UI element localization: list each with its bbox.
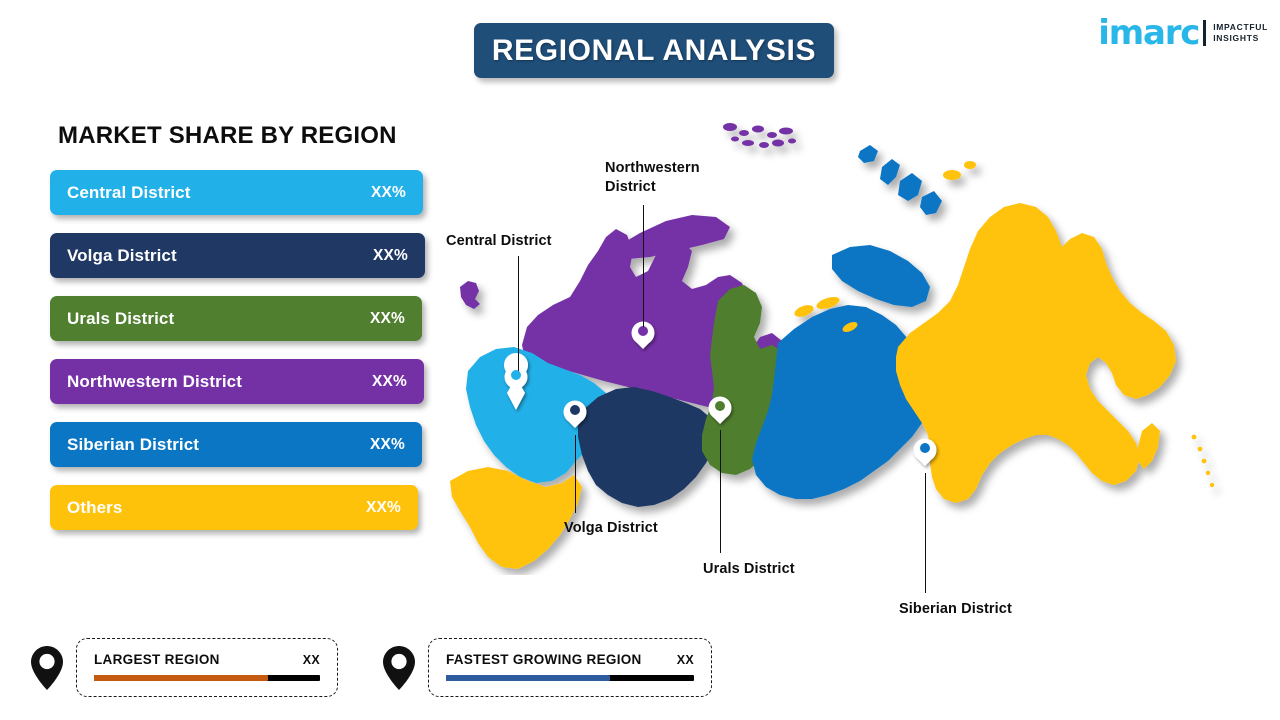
map-label-volga: Volga District [564,519,658,538]
callout-box: LARGEST REGION XX [76,638,338,697]
callout-progress-track [94,675,320,681]
region-siberian[interactable] [752,305,930,499]
region-sakhalin [1138,423,1160,469]
callout-value: XX [651,653,694,667]
leader-line-central [518,256,519,371]
map-label-northwestern: Northwestern District [605,159,700,197]
region-kaliningrad[interactable] [460,281,480,309]
callout-progress-fill [94,675,268,681]
callout-box: FASTEST GROWING REGION XX [428,638,712,697]
region-novaya-zemlya-blue [858,145,942,215]
callout-name: LARGEST REGION [94,652,220,667]
legend-row-siberian[interactable]: Siberian District XX% [50,422,422,467]
map-landmass-group [450,123,1214,569]
page-title-banner: REGIONAL ANALYSIS [474,23,834,78]
map-pin-siberian-hole [920,443,930,453]
legend-label: Urals District [67,309,370,329]
callout-head: FASTEST GROWING REGION XX [446,652,694,667]
map-label-urals: Urals District [703,560,795,579]
callout-head: LARGEST REGION XX [94,652,320,667]
imarc-logo: imarc IMPACTFUL INSIGHTS [1098,14,1268,52]
map-pin-northwestern-hole [638,326,648,336]
logo-divider [1203,20,1206,46]
region-kuril-islands [1192,435,1215,488]
legend-row-volga[interactable]: Volga District XX% [50,233,425,278]
legend-row-urals[interactable]: Urals District XX% [50,296,422,341]
leader-line-siberian [925,473,926,593]
legend-value: XX% [372,373,407,391]
legend-value: XX% [373,247,408,265]
legend-label: Siberian District [67,435,370,455]
region-others-south[interactable] [450,467,582,569]
leader-line-volga [575,435,576,513]
map-pin-central-hole [511,370,521,380]
legend-label: Volga District [67,246,373,266]
page-title: REGIONAL ANALYSIS [492,34,816,68]
map-label-siberian: Siberian District [899,600,1012,619]
slide-canvas: REGIONAL ANALYSIS imarc IMPACTFUL INSIGH… [0,0,1280,720]
callout-progress-fill [446,675,610,681]
location-pin-icon [382,645,416,691]
map-svg [430,105,1280,575]
callout-name: FASTEST GROWING REGION [446,652,642,667]
callout-largest-region[interactable]: LARGEST REGION XX [30,638,338,697]
location-pin-icon [30,645,64,691]
map-label-central: Central District [446,232,552,251]
leader-line-northwestern [643,205,644,327]
legend-value: XX% [366,499,401,517]
region-volga[interactable] [578,387,718,507]
legend-label: Northwestern District [67,372,372,392]
legend-value: XX% [371,184,406,202]
callout-progress-track [446,675,694,681]
panel-title: MARKET SHARE BY REGION [58,122,397,150]
legend-label: Others [67,498,366,518]
leader-line-urals [720,430,721,553]
market-share-legend: Central District XX% Volga District XX% … [50,170,430,548]
region-siberian-north [832,245,930,307]
legend-value: XX% [370,436,405,454]
legend-row-others[interactable]: Others XX% [50,485,418,530]
legend-label: Central District [67,183,371,203]
callout-value: XX [277,653,320,667]
imarc-wordmark: imarc [1098,16,1199,50]
logo-tagline-line2: INSIGHTS [1213,33,1268,44]
map-pin-urals-hole [715,401,725,411]
map-pin-volga-hole [570,405,580,415]
logo-tagline-line1: IMPACTFUL [1213,22,1268,33]
legend-row-northwestern[interactable]: Northwestern District XX% [50,359,424,404]
legend-row-central[interactable]: Central District XX% [50,170,423,215]
legend-value: XX% [370,310,405,328]
logo-tagline: IMPACTFUL INSIGHTS [1213,22,1268,44]
russia-district-map [430,105,1280,575]
region-franz-josef-islands [723,123,796,148]
callout-fastest-growing-region[interactable]: FASTEST GROWING REGION XX [382,638,712,697]
